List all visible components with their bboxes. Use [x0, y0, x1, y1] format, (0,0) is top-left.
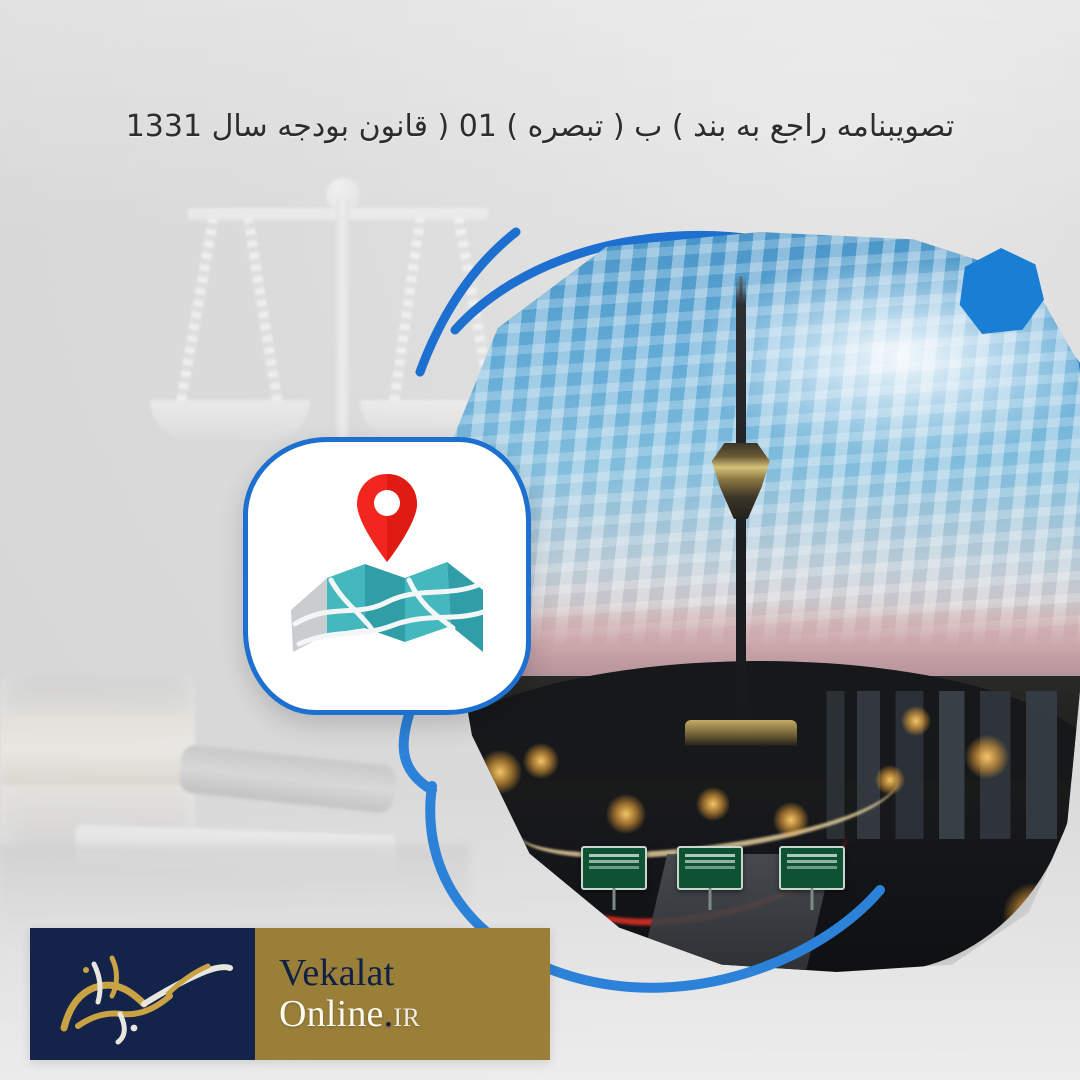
map-pin-icon: [355, 472, 419, 564]
road-sign: [581, 846, 647, 890]
logo-brand-panel: Vekalat Online.IR: [255, 928, 550, 1060]
logo-tld: IR: [393, 1003, 420, 1032]
road-sign: [779, 846, 845, 890]
site-logo[interactable]: Vekalat Online.IR: [30, 928, 550, 1060]
logo-brand-line1: Vekalat: [279, 953, 550, 994]
folded-map-icon: [287, 506, 487, 656]
poster-canvas: تصویبنامه راجع به بند ) ب ( تبصره ) 01 (…: [0, 0, 1080, 1080]
milad-tower-base: [685, 720, 797, 746]
page-title: تصویبنامه راجع به بند ) ب ( تبصره ) 01 (…: [0, 108, 1080, 146]
road-sign: [677, 846, 743, 890]
logo-brand-name: Online: [279, 993, 384, 1035]
vekalat-online-calligraphy-icon: [48, 942, 238, 1046]
logo-persian-panel: [30, 928, 255, 1060]
logo-brand-line2: Online.IR: [279, 994, 550, 1035]
map-location-badge[interactable]: [243, 437, 531, 715]
logo-dot: .: [384, 993, 394, 1035]
